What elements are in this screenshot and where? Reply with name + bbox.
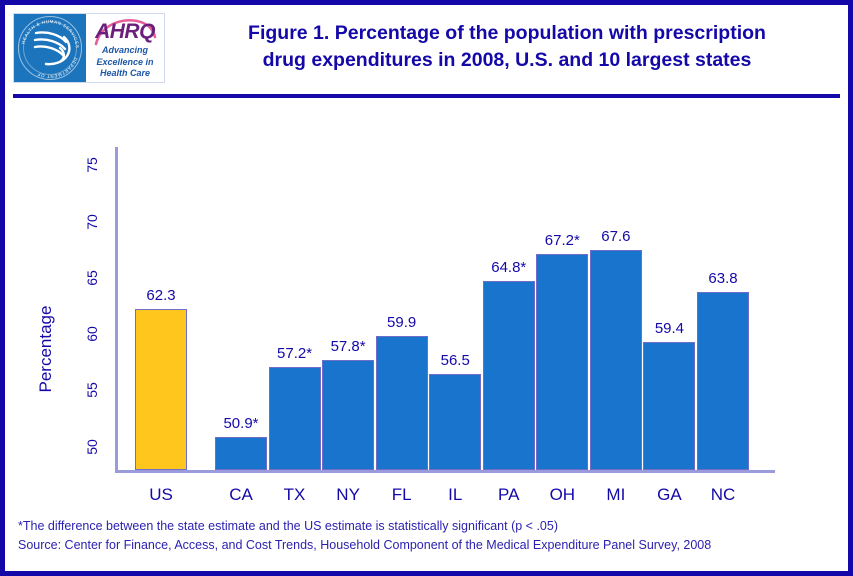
ahrq-tagline-line3: Health Care — [86, 68, 164, 80]
bar-rect-us — [135, 309, 187, 470]
x-tick-label-fl: FL — [372, 485, 432, 505]
bar-rect-mi — [590, 250, 642, 471]
x-tick-label-nc: NC — [693, 485, 753, 505]
figure-page: HEALTH & HUMAN SERVICES DEPARTMENT OF — [0, 0, 853, 576]
bar-value-mi: 67.6 — [576, 228, 656, 245]
figure-title-line2: drug expenditures in 2008, U.S. and 10 l… — [177, 47, 837, 74]
x-tick-label-il: IL — [425, 485, 485, 505]
y-tick-label-65: 65 — [84, 263, 100, 293]
y-tick-label-50: 50 — [84, 432, 100, 462]
bar-rect-ga — [643, 342, 695, 470]
ahrq-tagline-line1: Advancing — [86, 45, 164, 57]
bar-value-fl: 59.9 — [362, 314, 442, 331]
bar-rect-tx — [269, 367, 321, 471]
bar-chart: Percentage 505560657075 62.350.9*57.2*57… — [5, 101, 848, 511]
y-tick-label-70: 70 — [84, 207, 100, 237]
x-tick-label-tx: TX — [265, 485, 325, 505]
footnotes: *The difference between the state estima… — [18, 517, 838, 555]
x-tick-label-ca: CA — [211, 485, 271, 505]
bar-rect-ny — [322, 360, 374, 470]
bar-rect-oh — [536, 254, 588, 470]
bar-rect-nc — [697, 292, 749, 470]
bar-rect-il — [429, 374, 481, 470]
ahrq-logo: HEALTH & HUMAN SERVICES DEPARTMENT OF — [13, 13, 165, 83]
x-tick-label-ny: NY — [318, 485, 378, 505]
bar-rect-ca — [215, 437, 267, 470]
y-tick-label-55: 55 — [84, 375, 100, 405]
figure-title-line1: Figure 1. Percentage of the population w… — [177, 20, 837, 47]
footnote-significance: *The difference between the state estima… — [18, 517, 838, 536]
figure-header: HEALTH & HUMAN SERVICES DEPARTMENT OF — [5, 5, 848, 89]
bar-value-us: 62.3 — [121, 287, 201, 304]
x-tick-label-oh: OH — [532, 485, 592, 505]
figure-title: Figure 1. Percentage of the population w… — [177, 20, 837, 74]
y-tick-label-60: 60 — [84, 319, 100, 349]
x-axis-line — [115, 470, 775, 473]
hhs-bird-icon — [30, 26, 76, 70]
x-tick-label-ga: GA — [639, 485, 699, 505]
hhs-seal-icon: HEALTH & HUMAN SERVICES DEPARTMENT OF — [14, 14, 86, 82]
bar-value-nc: 63.8 — [683, 270, 763, 287]
ahrq-tagline-line2: Excellence in — [86, 57, 164, 69]
ahrq-wordmark: AHRQ Advancing Excellence in Health Care — [86, 14, 164, 82]
x-tick-label-pa: PA — [479, 485, 539, 505]
ahrq-tagline: Advancing Excellence in Health Care — [86, 45, 164, 80]
ahrq-letters: AHRQ — [86, 21, 164, 43]
y-tick-label-75: 75 — [84, 150, 100, 180]
footnote-source: Source: Center for Finance, Access, and … — [18, 536, 838, 555]
bar-rect-pa — [483, 281, 535, 470]
x-tick-label-us: US — [131, 485, 191, 505]
y-axis-title: Percentage — [36, 294, 56, 404]
y-axis-line — [115, 147, 118, 473]
x-tick-label-mi: MI — [586, 485, 646, 505]
plot-area: 62.350.9*57.2*57.8*59.956.564.8*67.2*67.… — [115, 147, 775, 473]
header-divider — [13, 94, 840, 98]
